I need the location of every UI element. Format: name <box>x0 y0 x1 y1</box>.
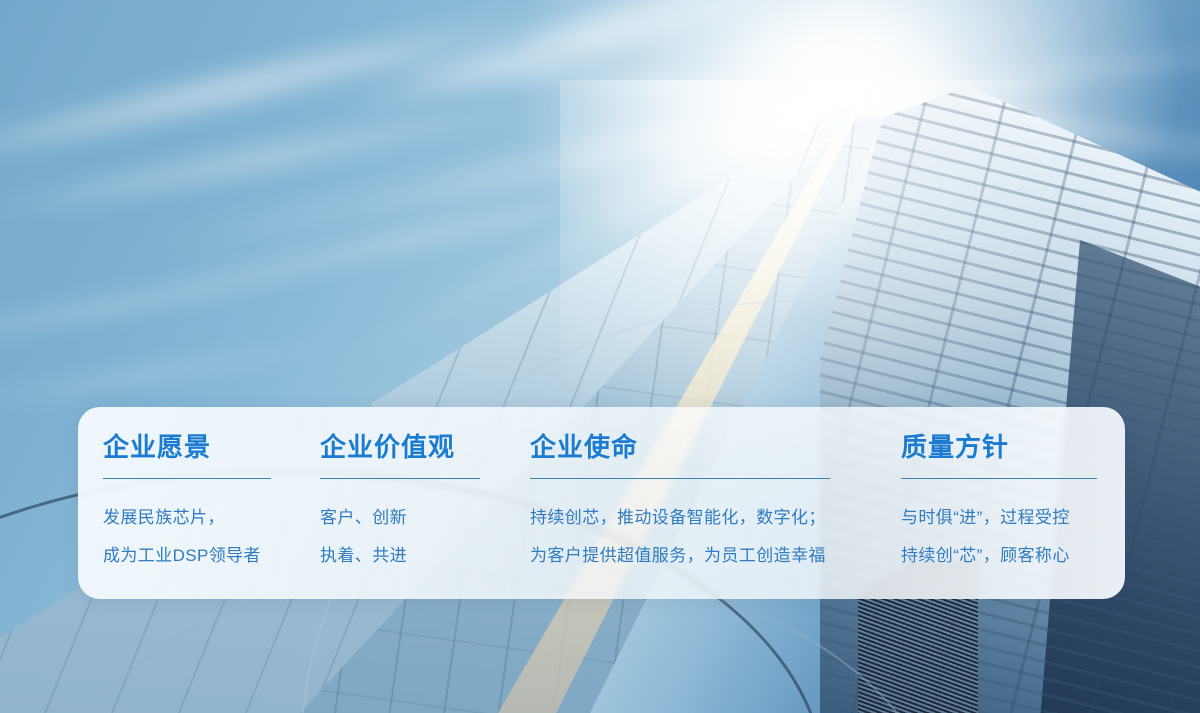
column-text-line: 持续创芯，推动设备智能化，数字化； <box>530 499 878 537</box>
column-title: 企业使命 <box>530 434 878 460</box>
column-text-line: 为客户提供超值服务，为员工创造幸福 <box>530 537 878 575</box>
column-text-line: 与时俱“进”，过程受控 <box>901 499 1125 537</box>
title-divider <box>320 478 480 479</box>
column-title: 质量方针 <box>901 434 1125 460</box>
culture-card: 企业愿景 发展民族芯片， 成为工业DSP领导者 企业价值观 客户、创新 执着、共… <box>78 407 1125 599</box>
title-divider <box>901 478 1097 479</box>
culture-column-values: 企业价值观 客户、创新 执着、共进 <box>298 434 503 575</box>
culture-column-quality: 质量方针 与时俱“进”，过程受控 持续创“芯”，顾客称心 <box>878 434 1125 575</box>
column-text-line: 发展民族芯片， <box>103 499 298 537</box>
title-divider <box>103 478 271 479</box>
banner-stage: 企业愿景 发展民族芯片， 成为工业DSP领导者 企业价值观 客户、创新 执着、共… <box>0 0 1200 713</box>
column-title: 企业愿景 <box>103 434 298 460</box>
column-text-line: 客户、创新 <box>320 499 503 537</box>
column-text-line: 持续创“芯”，顾客称心 <box>901 537 1125 575</box>
column-text-line: 执着、共进 <box>320 537 503 575</box>
culture-column-mission: 企业使命 持续创芯，推动设备智能化，数字化； 为客户提供超值服务，为员工创造幸福 <box>503 434 878 575</box>
column-text-line: 成为工业DSP领导者 <box>103 537 298 575</box>
column-title: 企业价值观 <box>320 434 503 460</box>
culture-column-vision: 企业愿景 发展民族芯片， 成为工业DSP领导者 <box>78 434 298 575</box>
title-divider <box>530 478 830 479</box>
